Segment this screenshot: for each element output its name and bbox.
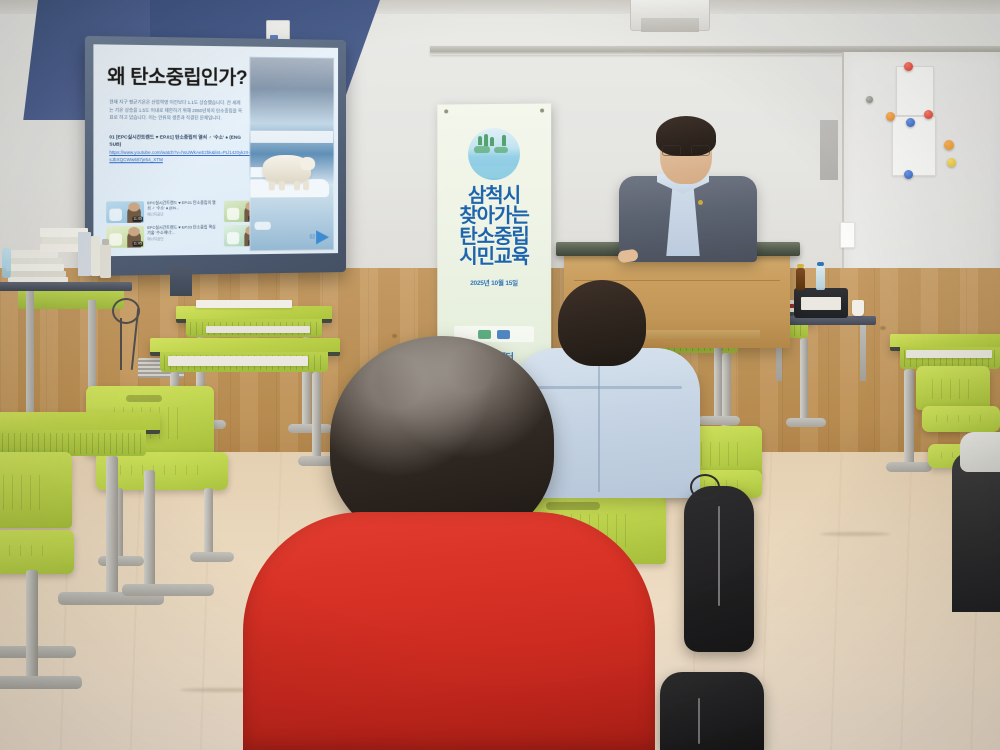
- desk-foot: [698, 416, 740, 425]
- chair-grip-handle: [546, 502, 600, 510]
- slide-link-title: 01 [EPC실시간트렌드 ♥ EP.01] 탄소중립의 열쇠 ♂ '수소' ♠…: [109, 133, 250, 148]
- slide-body-text: 현재 지구 평균기온은 산업혁명 이전보다 1.1도 상승했습니다. 전 세계는…: [109, 98, 244, 122]
- chair-foot: [98, 556, 144, 566]
- chair-foot: [190, 552, 234, 562]
- thumb-graphic: [226, 232, 238, 244]
- polar-bear-photo: 02: [249, 57, 334, 252]
- polar-bear-head: [300, 157, 315, 170]
- video-card[interactable]: 11:05 EPC실시간트렌드 ♥ EP.01 탄소중립의 열쇠 ♂ '수소' …: [106, 201, 216, 223]
- case-label: [801, 297, 841, 310]
- backpack-zipper: [698, 698, 700, 744]
- rear-post: [820, 120, 838, 180]
- glasses-lens-left: [662, 145, 681, 156]
- chair-back[interactable]: [0, 452, 72, 528]
- presentation-slide: 왜 탄소중립인가? 현재 지구 평균기온은 산업혁명 이전보다 1.1도 상승했…: [93, 44, 338, 256]
- chair-foot: [122, 584, 214, 596]
- magnet-yellow: [947, 158, 956, 167]
- water-bottle[interactable]: [816, 266, 825, 290]
- whiteboard-note-left: [840, 222, 855, 248]
- polar-bear-leg: [279, 181, 285, 190]
- desk-foot: [886, 462, 932, 472]
- chair-grip-handle: [126, 395, 162, 402]
- video-thumbnail[interactable]: 11:05: [106, 226, 144, 248]
- video-channel: 에너지공단: [147, 237, 216, 243]
- globe-water: [472, 166, 516, 178]
- backpack-hanging: [684, 486, 754, 652]
- magnet-grey: [866, 96, 873, 103]
- video-duration: 11:05: [132, 217, 143, 222]
- chair-foot: [0, 676, 82, 689]
- video-card[interactable]: 11:05 EPC실시간트렌드 ♥ EP.03 탄소중립 핵심기술 '수소에너'…: [106, 225, 216, 248]
- chair-leg: [26, 570, 38, 682]
- desk-foot: [786, 418, 826, 427]
- side-table-leg: [860, 325, 866, 381]
- attendee-right-body: [952, 452, 1000, 612]
- wood-knot: [880, 326, 886, 330]
- thumb-graphic: [226, 208, 238, 220]
- binder: [91, 236, 100, 276]
- backpack-strap: [690, 474, 720, 500]
- globe-illustration-icon: [468, 128, 520, 180]
- magnet-blue-mid: [906, 118, 915, 127]
- banner-line-3: 탄소중립: [437, 227, 551, 248]
- thumb-graphic: [109, 209, 122, 221]
- magnet-orange-right: [944, 140, 954, 150]
- slide-link-block: 01 [EPC실시간트렌드 ♥ EP.01] 탄소중립의 열쇠 ♂ '수소' ♠…: [109, 133, 250, 163]
- desk-leg: [106, 456, 118, 598]
- whiteboard: [842, 52, 1000, 302]
- equipment-case: [794, 288, 848, 318]
- presentation-display: 왜 탄소중립인가? 현재 지구 평균기온은 산업혁명 이전보다 1.1도 상승했…: [85, 36, 346, 276]
- video-title: EPC실시간트렌드 ♥ EP.01 탄소중립의 열쇠 ♂ '수소' ♠ (EN.…: [147, 201, 216, 212]
- papers-on-desk: [206, 326, 310, 333]
- magnet-blue-bottom: [904, 170, 913, 179]
- globe-land: [474, 146, 490, 153]
- polar-bear-leg: [303, 181, 309, 190]
- dispenser-body: [100, 244, 111, 278]
- glasses-lens-right: [691, 145, 710, 156]
- desk-leg: [904, 369, 914, 469]
- chair-back[interactable]: [916, 366, 990, 410]
- banner-line-2: 찾아가는: [437, 206, 551, 227]
- banner-grommet: [540, 109, 544, 113]
- magnet-orange: [886, 112, 895, 121]
- speaker-glasses-icon: [662, 145, 710, 154]
- display-screen: 왜 탄소중립인가? 현재 지구 평균기온은 산업혁명 이전보다 1.1도 상승했…: [93, 44, 338, 256]
- polar-bear-leg: [269, 181, 275, 190]
- equipment-desk-top: [0, 282, 132, 291]
- backpack-floor: [660, 672, 764, 750]
- papers-on-desk: [196, 300, 292, 308]
- shirt-center-seam: [598, 352, 600, 492]
- display-stand: [170, 266, 192, 296]
- backpack-zipper: [718, 506, 720, 606]
- speaker-lapel-pin: [698, 200, 703, 205]
- dispenser-cap: [102, 239, 109, 245]
- coffee-bottle[interactable]: [796, 268, 805, 290]
- next-slide-arrow-icon[interactable]: [316, 230, 329, 244]
- water-bottle-left[interactable]: [2, 248, 11, 278]
- cable-run: [120, 318, 122, 370]
- desk-leg: [312, 372, 321, 462]
- wall-speaker-device: [630, 0, 710, 31]
- banner-line-4: 시민교육: [437, 247, 551, 267]
- binder: [78, 232, 91, 276]
- book: [6, 264, 64, 271]
- globe-tree: [478, 136, 482, 145]
- ice-shelf-far: [250, 131, 333, 143]
- thumb-graphic: [109, 233, 122, 246]
- globe-tree: [502, 135, 506, 146]
- sponsor-logo-blue: [497, 330, 510, 339]
- video-meta: EPC실시간트렌드 ♥ EP.01 탄소중립의 열쇠 ♂ '수소' ♠ (EN.…: [147, 201, 216, 218]
- video-title: EPC실시간트렌드 ♥ EP.03 탄소중립 핵심기술 '수소에너'...: [147, 225, 216, 236]
- chair-seat[interactable]: [0, 530, 74, 574]
- video-duration: 11:05: [132, 241, 143, 246]
- globe-tree: [484, 134, 488, 146]
- globe-land: [494, 147, 508, 153]
- banner-headline-block: 삼척시 찾아가는 탄소중립 시민교육: [437, 186, 551, 268]
- classroom-photo-scene: 왜 탄소중립인가? 현재 지구 평균기온은 산업혁명 이전보다 1.1도 상승했…: [0, 0, 1000, 750]
- equipment-desk-leg: [26, 291, 34, 421]
- wood-knot: [392, 334, 397, 338]
- papers-on-desk: [906, 350, 992, 358]
- banner-grommet: [444, 109, 448, 113]
- foreground-attendee-red-shirt: [243, 512, 655, 750]
- ice-chunk-small: [255, 222, 271, 230]
- shirt-yoke-seam: [530, 386, 682, 389]
- papers-on-desk: [168, 356, 308, 366]
- video-channel: 에너지공단: [147, 212, 216, 217]
- magnet-red-mid: [924, 110, 933, 119]
- polar-bear-leg: [294, 181, 300, 190]
- slide-url[interactable]: https://www.youtube.com/watch?v=hsUWkAeE…: [109, 150, 250, 164]
- chair-leg: [204, 488, 213, 558]
- video-meta: EPC실시간트렌드 ♥ EP.03 탄소중립 핵심기술 '수소에너'... 에너…: [147, 225, 216, 242]
- sponsor-logo-green: [478, 329, 491, 338]
- slide-nav-label: 02: [310, 234, 316, 240]
- globe-tree: [490, 137, 494, 146]
- attendee-blueshirt-hair: [558, 280, 646, 366]
- floor-scuff: [820, 532, 890, 536]
- desk-leg: [800, 338, 808, 424]
- banner-line-1: 삼척시: [437, 186, 551, 207]
- bottle-cap: [817, 262, 824, 266]
- chair-leg: [144, 470, 155, 590]
- desk-foot: [0, 646, 76, 658]
- magnet-red-top: [904, 62, 913, 71]
- polar-bear: [263, 155, 311, 183]
- paper-cup: [852, 300, 864, 316]
- attendee-right-shirt: [960, 432, 1000, 472]
- whiteboard-paper-top: [896, 66, 934, 116]
- book: [8, 277, 68, 282]
- desk-foot: [288, 424, 332, 433]
- video-thumbnail[interactable]: 11:05: [106, 201, 144, 223]
- chair-seat[interactable]: [922, 406, 1000, 432]
- bottle-cap: [797, 264, 804, 268]
- banner-date: 2025년 10월 15일: [437, 276, 551, 286]
- desk-leg: [714, 338, 722, 422]
